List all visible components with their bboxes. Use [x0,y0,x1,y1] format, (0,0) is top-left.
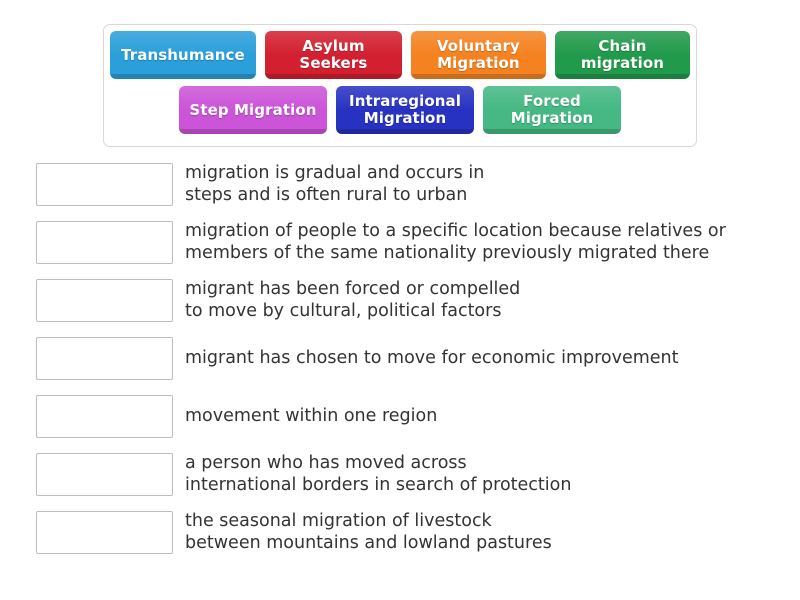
question-text: migrant has been forced or compelled to … [185,278,520,322]
tile-transhumance[interactable]: Transhumance [110,31,256,79]
question-text: migrant has chosen to move for economic … [185,347,679,369]
tile-row-1: Transhumance Asylum Seekers Voluntary Mi… [104,31,696,79]
question-text: a person who has moved across internatio… [185,452,571,496]
question-row: migration is gradual and occurs in steps… [0,160,800,208]
question-list: migration is gradual and occurs in steps… [0,160,800,566]
answer-drop-zone[interactable] [36,221,173,264]
question-row: the seasonal migration of livestock betw… [0,508,800,556]
question-text: the seasonal migration of livestock betw… [185,510,552,554]
tile-label: Intraregional Migration [349,93,461,127]
question-text: migration of people to a specific locati… [185,220,726,264]
tile-label: Forced Migration [511,93,594,127]
question-row: migration of people to a specific locati… [0,218,800,266]
tile-label: Voluntary Migration [437,38,520,72]
answer-drop-zone[interactable] [36,395,173,438]
answer-tile-bank: Transhumance Asylum Seekers Voluntary Mi… [103,24,697,147]
question-row: movement within one region [0,392,800,440]
question-row: migrant has chosen to move for economic … [0,334,800,382]
tile-label: Step Migration [189,102,316,119]
tile-intraregional-migration[interactable]: Intraregional Migration [336,86,474,134]
answer-drop-zone[interactable] [36,511,173,554]
tile-row-2: Step Migration Intraregional Migration F… [104,86,696,134]
tile-label: Chain migration [581,38,664,72]
question-text: migration is gradual and occurs in steps… [185,162,484,206]
tile-asylum-seekers[interactable]: Asylum Seekers [265,31,402,79]
tile-step-migration[interactable]: Step Migration [179,86,327,134]
question-row: a person who has moved across internatio… [0,450,800,498]
tile-forced-migration[interactable]: Forced Migration [483,86,621,134]
tile-voluntary-migration[interactable]: Voluntary Migration [411,31,546,79]
question-text: movement within one region [185,405,437,427]
tile-label: Transhumance [121,47,245,64]
answer-drop-zone[interactable] [36,279,173,322]
answer-drop-zone[interactable] [36,453,173,496]
question-row: migrant has been forced or compelled to … [0,276,800,324]
tile-chain-migration[interactable]: Chain migration [555,31,690,79]
answer-drop-zone[interactable] [36,337,173,380]
answer-drop-zone[interactable] [36,163,173,206]
tile-label: Asylum Seekers [299,38,367,72]
